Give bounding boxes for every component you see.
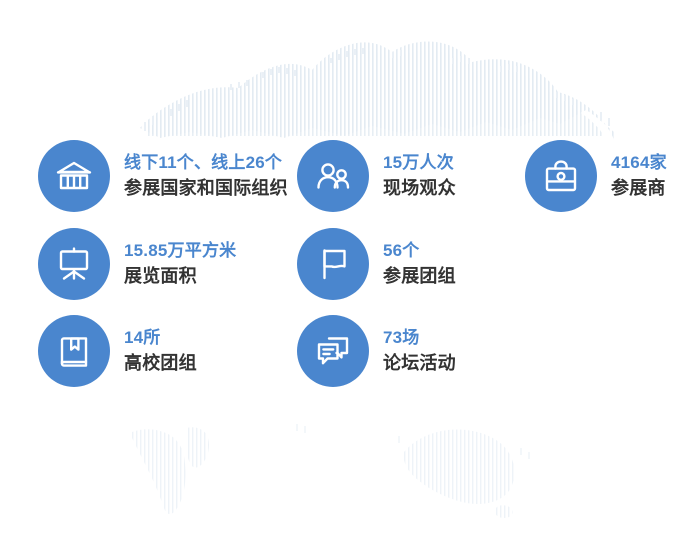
- stat-label: 参展团组: [383, 264, 456, 288]
- easel-board-icon: [38, 228, 110, 300]
- stat-value: 14所: [124, 327, 197, 350]
- stat-value: 4164家: [611, 152, 667, 175]
- people-group-icon: [297, 140, 369, 212]
- stat-label: 现场观众: [383, 176, 456, 200]
- stat-label: 展览面积: [124, 264, 236, 288]
- stats-grid: 线下11个、线上26个 参展国家和国际组织 15万人次 现场观众: [0, 0, 684, 544]
- stat-label: 参展国家和国际组织: [124, 176, 288, 200]
- stat-label: 论坛活动: [383, 351, 456, 375]
- stat-text: 线下11个、线上26个 参展国家和国际组织: [124, 152, 288, 200]
- museum-building-icon: [38, 140, 110, 212]
- stat-item-delegations: 56个 参展团组: [297, 228, 456, 300]
- stat-item-exhibition-area: 15.85万平方米 展览面积: [38, 228, 236, 300]
- stat-text: 56个 参展团组: [383, 240, 456, 288]
- stat-item-forum-activities: 73场 论坛活动: [297, 315, 456, 387]
- stat-text: 15万人次 现场观众: [383, 152, 456, 200]
- stat-value: 56个: [383, 240, 456, 263]
- stat-item-countries-organizations: 线下11个、线上26个 参展国家和国际组织: [38, 140, 288, 212]
- briefcase-icon: [525, 140, 597, 212]
- stat-item-onsite-audience: 15万人次 现场观众: [297, 140, 456, 212]
- stat-item-exhibitors: 4164家 参展商: [525, 140, 667, 212]
- stat-value: 73场: [383, 327, 456, 350]
- stat-label: 高校团组: [124, 351, 197, 375]
- book-bookmark-icon: [38, 315, 110, 387]
- stat-value: 15万人次: [383, 152, 456, 175]
- stat-item-university-groups: 14所 高校团组: [38, 315, 197, 387]
- stat-value: 15.85万平方米: [124, 240, 236, 263]
- stat-text: 4164家 参展商: [611, 152, 667, 200]
- flag-icon: [297, 228, 369, 300]
- stat-value: 线下11个、线上26个: [124, 152, 288, 175]
- stat-label: 参展商: [611, 176, 667, 200]
- stat-text: 15.85万平方米 展览面积: [124, 240, 236, 288]
- stat-text: 73场 论坛活动: [383, 327, 456, 375]
- stat-text: 14所 高校团组: [124, 327, 197, 375]
- speech-bubbles-icon: [297, 315, 369, 387]
